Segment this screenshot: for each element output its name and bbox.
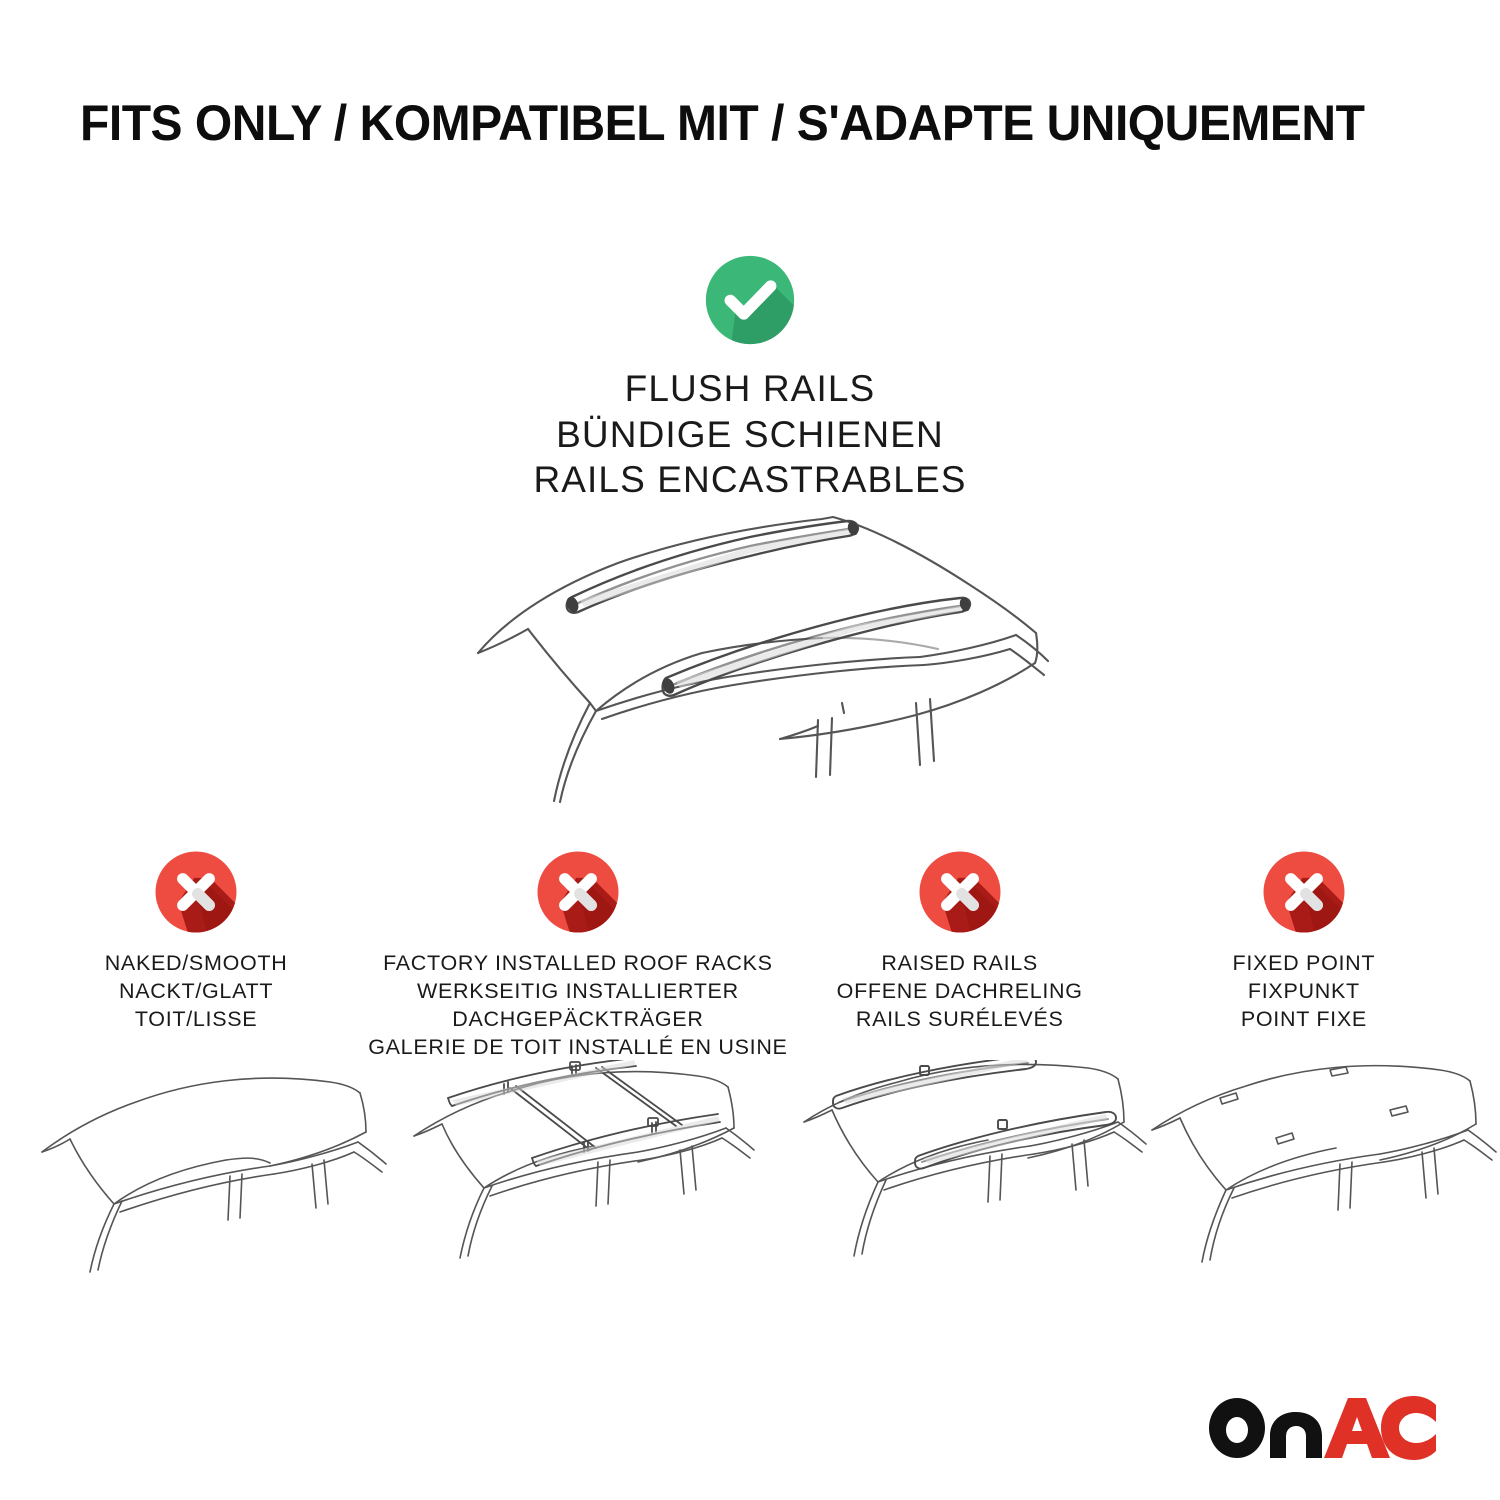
compatible-label-line-1: FLUSH RAILS — [533, 366, 966, 412]
option-label-line-3: RAILS SURÉLEVÉS — [837, 1006, 1083, 1034]
red-x-circle-icon — [916, 848, 1004, 936]
option-naked-smooth: NAKED/SMOOTH NACKT/GLATT TOIT/LISSE — [24, 848, 368, 1034]
compatible-section: FLUSH RAILS BÜNDIGE SCHIENEN RAILS ENCAS… — [0, 252, 1500, 503]
option-raised-rails: RAISED RAILS OFFENE DACHRELING RAILS SUR… — [788, 848, 1132, 1034]
option-label: RAISED RAILS OFFENE DACHRELING RAILS SUR… — [837, 950, 1083, 1034]
option-label-line-1: NAKED/SMOOTH — [105, 950, 288, 978]
option-label-line-2: NACKT/GLATT — [105, 978, 288, 1006]
compatible-label-line-3: RAILS ENCASTRABLES — [533, 457, 966, 503]
option-label: NAKED/SMOOTH NACKT/GLATT TOIT/LISSE — [105, 950, 288, 1034]
red-x-circle-icon — [152, 848, 240, 936]
car-roof-fixed-point-illustration — [1150, 1060, 1500, 1295]
option-label-line-2: OFFENE DACHRELING — [837, 978, 1083, 1006]
car-roof-factory-racks-illustration — [412, 1060, 762, 1295]
option-label: FACTORY INSTALLED ROOF RACKS WERKSEITIG … — [368, 950, 787, 1062]
header: FITS ONLY / KOMPATIBEL MIT / S'ADAPTE UN… — [0, 96, 1500, 150]
car-roof-flush-rails-illustration — [450, 505, 1050, 805]
compatible-label: FLUSH RAILS BÜNDIGE SCHIENEN RAILS ENCAS… — [533, 366, 966, 503]
logo-letter-o — [1209, 1398, 1265, 1458]
option-label-line-3: POINT FIXE — [1233, 1006, 1376, 1034]
option-label-line-3: TOIT/LISSE — [105, 1006, 288, 1034]
logo-letter-c — [1381, 1396, 1436, 1460]
compatible-label-line-2: BÜNDIGE SCHIENEN — [533, 412, 966, 458]
omac-logo — [1206, 1392, 1438, 1462]
red-x-circle-icon — [1260, 848, 1348, 936]
logo-letter-a — [1324, 1398, 1390, 1458]
car-roof-naked-illustration — [40, 1060, 390, 1295]
option-label-line-2: WERKSEITIG INSTALLIERTER — [368, 978, 787, 1006]
incompatible-options: NAKED/SMOOTH NACKT/GLATT TOIT/LISSE FACT… — [0, 848, 1500, 1062]
red-x-circle-icon — [534, 848, 622, 936]
car-roof-raised-rails-illustration — [802, 1060, 1152, 1295]
option-factory-roof-racks: FACTORY INSTALLED ROOF RACKS WERKSEITIG … — [368, 848, 787, 1062]
option-label-line-3: DACHGEPÄCKTRÄGER — [368, 1006, 787, 1034]
option-fixed-point: FIXED POINT FIXPUNKT POINT FIXE — [1132, 848, 1476, 1034]
page-title: FITS ONLY / KOMPATIBEL MIT / S'ADAPTE UN… — [80, 96, 1366, 150]
option-label-line-4: GALERIE DE TOIT INSTALLÉ EN USINE — [368, 1034, 787, 1062]
option-label: FIXED POINT FIXPUNKT POINT FIXE — [1233, 950, 1376, 1034]
option-label-line-1: RAISED RAILS — [837, 950, 1083, 978]
green-check-circle-icon — [702, 252, 798, 348]
option-label-line-1: FIXED POINT — [1233, 950, 1376, 978]
option-label-line-2: FIXPUNKT — [1233, 978, 1376, 1006]
option-label-line-1: FACTORY INSTALLED ROOF RACKS — [368, 950, 787, 978]
